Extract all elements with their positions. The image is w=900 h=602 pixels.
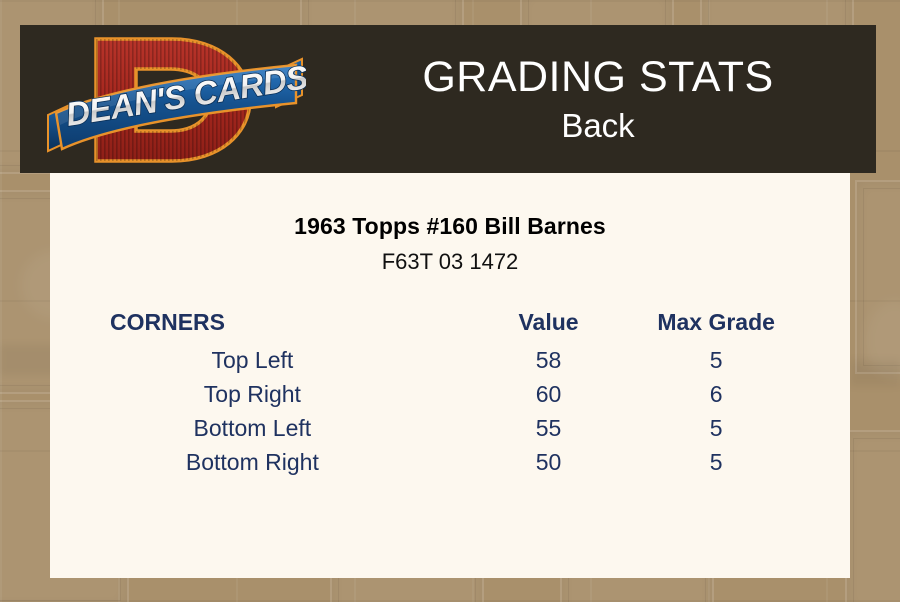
stats-header-row: CORNERS Value Max Grade bbox=[100, 309, 800, 343]
row-value: 50 bbox=[465, 445, 633, 479]
table-row: Top Right 60 6 bbox=[100, 377, 800, 411]
row-label: Bottom Right bbox=[100, 445, 465, 479]
table-row: Top Left 58 5 bbox=[100, 343, 800, 377]
header-titles: GRADING STATS Back bbox=[320, 25, 876, 173]
row-value: 58 bbox=[465, 343, 633, 377]
page-subtitle: Back bbox=[561, 106, 634, 146]
table-row: Bottom Right 50 5 bbox=[100, 445, 800, 479]
column-header-corners: CORNERS bbox=[100, 309, 465, 343]
card-code: F63T 03 1472 bbox=[50, 240, 850, 275]
deans-cards-logo[interactable]: DEAN'S CARDS bbox=[44, 29, 306, 171]
logo-artwork: DEAN'S CARDS bbox=[44, 29, 306, 171]
row-max-grade: 5 bbox=[632, 343, 800, 377]
card-title: 1963 Topps #160 Bill Barnes bbox=[50, 173, 850, 240]
row-label: Bottom Left bbox=[100, 411, 465, 445]
row-label: Top Right bbox=[100, 377, 465, 411]
background-ghost-shadow bbox=[850, 360, 900, 386]
column-header-value: Value bbox=[465, 309, 633, 343]
row-max-grade: 6 bbox=[632, 377, 800, 411]
page-root: DEAN'S CARDS GRADING STATS Back 1963 Top… bbox=[0, 0, 900, 602]
row-max-grade: 5 bbox=[632, 411, 800, 445]
row-label: Top Left bbox=[100, 343, 465, 377]
row-value: 55 bbox=[465, 411, 633, 445]
row-max-grade: 5 bbox=[632, 445, 800, 479]
background-ghost-card bbox=[845, 430, 900, 602]
column-header-max-grade: Max Grade bbox=[632, 309, 800, 343]
table-row: Bottom Left 55 5 bbox=[100, 411, 800, 445]
content-panel: 1963 Topps #160 Bill Barnes F63T 03 1472… bbox=[50, 173, 850, 578]
stats-table-body: Top Left 58 5 Top Right 60 6 Bottom Left… bbox=[100, 343, 800, 479]
grading-stats-table: CORNERS Value Max Grade Top Left 58 5 To… bbox=[100, 309, 800, 479]
page-title: GRADING STATS bbox=[422, 52, 773, 102]
header-bar: DEAN'S CARDS GRADING STATS Back bbox=[20, 25, 876, 173]
row-value: 60 bbox=[465, 377, 633, 411]
stats-table-head: CORNERS Value Max Grade bbox=[100, 309, 800, 343]
